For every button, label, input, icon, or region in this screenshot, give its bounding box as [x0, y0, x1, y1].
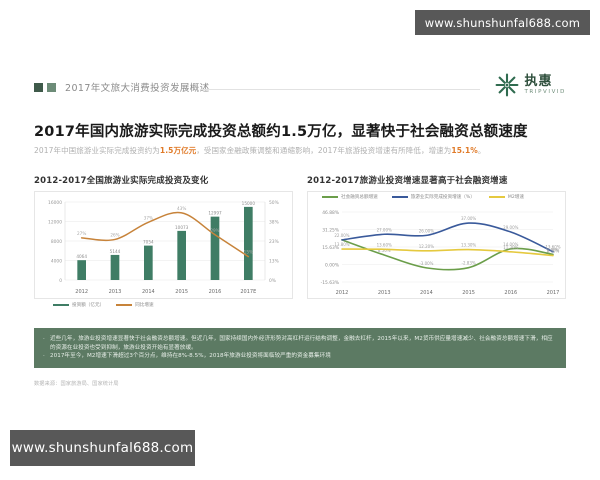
brand-logo: 执惠 TRIPVIVID	[494, 72, 566, 98]
svg-text:4000: 4000	[51, 259, 62, 265]
footnote-box: 近些几年，旅游业投资增速显著快于社会融资总额增速。但近几年，国家持续国内外经济形…	[34, 328, 566, 368]
charts-row: 2012-2017全国旅游业实际完成投资及变化 0400080001200016…	[34, 174, 566, 299]
svg-text:12997: 12997	[208, 211, 222, 216]
subtitle-highlight-growth: 15.1%	[451, 146, 478, 155]
left-chart-container: 2012-2017全国旅游业实际完成投资及变化 0400080001200016…	[34, 174, 293, 299]
legend-swatch-icon	[489, 196, 505, 198]
svg-text:43%: 43%	[177, 206, 186, 211]
svg-text:27%: 27%	[77, 231, 86, 236]
left-chart-legend: 投资额（亿元）同比增速	[35, 298, 292, 308]
page-title: 2017年国内旅游实际完成投资总额约1.5万亿，显著快于社会融资总额速度	[34, 120, 528, 141]
footnote-list: 近些几年，旅游业投资增速显著快于社会融资总额增速。但近几年，国家持续国内外经济形…	[43, 335, 557, 361]
legend-swatch-icon	[322, 196, 338, 198]
legend-label: 旅游业实际完成投资增速（%）	[411, 194, 475, 200]
svg-text:10073: 10073	[175, 225, 189, 230]
left-chart-title: 2012-2017全国旅游业实际完成投资及变化	[34, 174, 293, 186]
kicker-square-dark-icon	[34, 83, 43, 92]
legend-item: M2增速	[489, 194, 524, 200]
legend-label: 投资额（亿元）	[72, 302, 104, 308]
footnote-item: 2017年至今，M2增速下滑超过3个百分点，维持在8%-8.5%，2018年旅游…	[43, 352, 557, 361]
svg-text:13.30%: 13.30%	[461, 243, 476, 248]
left-chart-svg: 04000800012000160000%13%23%38%50%4064201…	[35, 192, 292, 298]
svg-text:2015: 2015	[175, 289, 188, 295]
svg-text:38%: 38%	[269, 220, 279, 226]
legend-swatch-icon	[53, 304, 69, 306]
legend-swatch-icon	[116, 304, 132, 306]
right-chart-legend: 社会融资总额增速旅游业实际完成投资增速（%）M2增速	[322, 194, 524, 200]
kicker-label: 2017年文旅大消费投资发展概述	[65, 80, 210, 94]
right-chart-svg: 46.88%31.25%15.63%0.00%-15.63%2012201320…	[308, 192, 565, 298]
footnote-item: 近些几年，旅游业投资增速显著快于社会融资总额增速。但近几年，国家持续国内外经济形…	[43, 335, 557, 352]
page-subtitle: 2017年中国旅游业实际完成投资约为1.5万亿元，受国家金融政策调整和通缩影响，…	[34, 145, 486, 156]
svg-text:2012: 2012	[75, 289, 88, 295]
svg-text:8000: 8000	[51, 239, 62, 245]
svg-text:2017: 2017	[547, 290, 560, 296]
svg-text:37%: 37%	[144, 215, 153, 220]
legend-label: M2增速	[508, 194, 524, 200]
subtitle-mid: ，受国家金融政策调整和通缩影响，2017年旅游投资增速有所降低，增速为	[196, 146, 451, 155]
svg-text:22.00%: 22.00%	[334, 233, 349, 238]
svg-text:-15.63%: -15.63%	[321, 280, 339, 286]
svg-text:29%: 29%	[210, 228, 219, 233]
svg-text:23%: 23%	[269, 239, 279, 245]
legend-label: 同比增速	[135, 302, 153, 308]
left-chart-frame: 04000800012000160000%13%23%38%50%4064201…	[34, 191, 293, 299]
svg-text:11.30%: 11.30%	[503, 245, 518, 250]
svg-text:4064: 4064	[76, 254, 87, 259]
svg-text:50%: 50%	[269, 200, 279, 206]
subtitle-end: 。	[478, 146, 486, 155]
svg-text:13.80%: 13.80%	[334, 242, 349, 247]
slide-page: www.shunshunfal688.com www.shunshunfal68…	[0, 0, 600, 480]
svg-text:2013: 2013	[378, 290, 391, 296]
svg-text:2012: 2012	[336, 290, 349, 296]
svg-text:7054: 7054	[143, 240, 154, 245]
svg-text:26.00%: 26.00%	[419, 228, 434, 233]
legend-label: 社会融资总额增速	[341, 194, 378, 200]
svg-text:15000: 15000	[242, 201, 256, 206]
svg-text:12.20%: 12.20%	[419, 244, 434, 249]
svg-text:37.00%: 37.00%	[461, 216, 476, 221]
legend-swatch-icon	[392, 196, 408, 198]
watermark-bottom: www.shunshunfal688.com	[10, 430, 195, 466]
legend-item: 社会融资总额增速	[322, 194, 378, 200]
svg-text:8.00%: 8.00%	[547, 249, 560, 254]
slide-content: 2017年文旅大消费投资发展概述 执惠 TRIPVIVID 2017年国内旅游实…	[30, 62, 570, 397]
legend-item: 旅游业实际完成投资增速（%）	[392, 194, 475, 200]
svg-text:5144: 5144	[110, 249, 121, 254]
kicker-square-light-icon	[47, 83, 56, 92]
right-chart-title: 2012-2017旅游业投资增速显著高于社会融资增速	[307, 174, 566, 186]
svg-text:0%: 0%	[269, 278, 276, 284]
svg-text:13%: 13%	[269, 259, 279, 265]
svg-text:-3.00%: -3.00%	[419, 261, 433, 266]
svg-text:2013: 2013	[109, 289, 122, 295]
subtitle-highlight-amount: 1.5万亿元	[160, 146, 196, 155]
svg-text:2014: 2014	[142, 289, 155, 295]
kicker-row: 2017年文旅大消费投资发展概述	[34, 80, 210, 94]
svg-text:0: 0	[59, 278, 62, 284]
logo-name-cn: 执惠	[524, 75, 566, 88]
svg-text:46.88%: 46.88%	[322, 210, 339, 216]
watermark-top: www.shunshunfal688.com	[415, 10, 590, 35]
svg-text:2016: 2016	[209, 289, 222, 295]
subtitle-pre: 2017年中国旅游业实际完成投资约为	[34, 146, 160, 155]
tripvivid-star-icon	[494, 72, 520, 98]
svg-text:12000: 12000	[48, 220, 62, 226]
svg-text:2017E: 2017E	[240, 289, 256, 295]
legend-item: 投资额（亿元）	[53, 302, 104, 308]
legend-item: 同比增速	[116, 302, 153, 308]
svg-text:2014: 2014	[420, 290, 433, 296]
right-chart-frame: 46.88%31.25%15.63%0.00%-15.63%2012201320…	[307, 191, 566, 299]
svg-text:16000: 16000	[48, 200, 62, 206]
svg-text:2015: 2015	[462, 290, 475, 296]
svg-text:-2.83%: -2.83%	[462, 261, 476, 266]
svg-text:26%: 26%	[110, 232, 119, 237]
right-chart-container: 2012-2017旅游业投资增速显著高于社会融资增速 46.88%31.25%1…	[307, 174, 566, 299]
svg-text:27.00%: 27.00%	[377, 227, 392, 232]
svg-text:2016: 2016	[504, 290, 517, 296]
logo-text: 执惠 TRIPVIVID	[524, 75, 566, 95]
svg-text:0.00%: 0.00%	[325, 263, 339, 269]
kicker-divider	[200, 89, 480, 90]
svg-text:29.00%: 29.00%	[503, 225, 518, 230]
svg-text:13.60%: 13.60%	[377, 242, 392, 247]
source-label: 数据来源：国家旅游局、国家统计局	[34, 380, 119, 387]
svg-text:15%: 15%	[244, 250, 253, 255]
logo-name-en: TRIPVIVID	[524, 90, 566, 96]
